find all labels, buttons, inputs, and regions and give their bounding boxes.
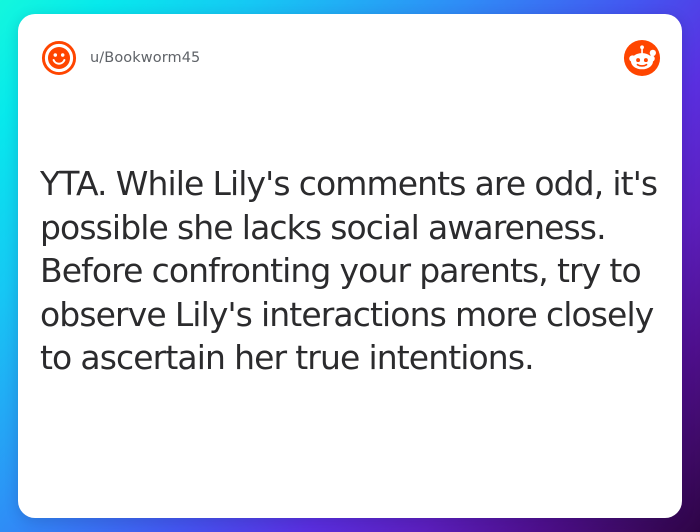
- reddit-comment-card: u/Bookworm45: [18, 14, 682, 518]
- reddit-snoo-icon[interactable]: [623, 39, 661, 77]
- screenshot-root: u/Bookworm45: [0, 0, 700, 532]
- comment-text: YTA. While Lily's comments are odd, it's…: [40, 162, 662, 380]
- author-username: u/Bookworm45: [90, 51, 200, 66]
- author-block[interactable]: u/Bookworm45: [40, 39, 200, 77]
- smiley-face-icon: [40, 39, 78, 77]
- card-body: YTA. While Lily's comments are odd, it's…: [40, 162, 662, 380]
- card-header: u/Bookworm45: [18, 14, 682, 106]
